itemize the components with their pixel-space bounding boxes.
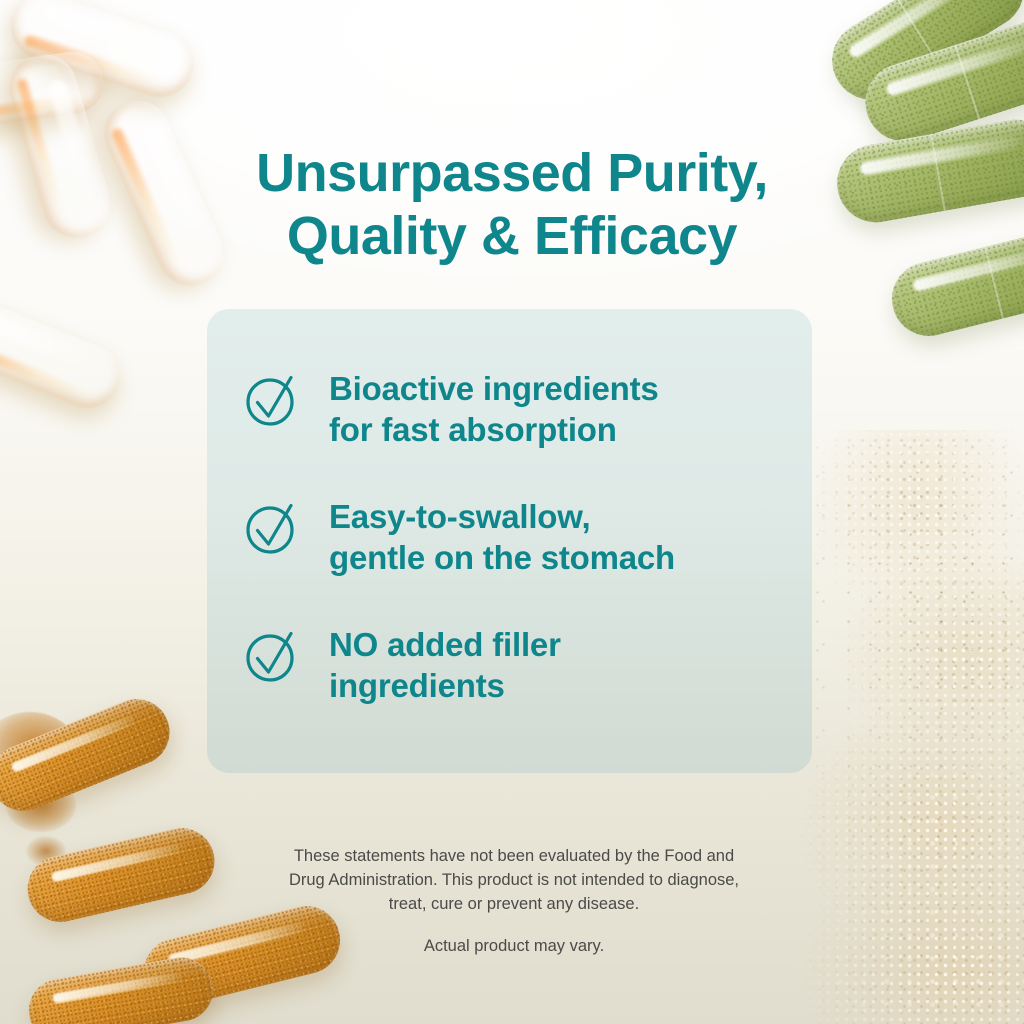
- page-title: Unsurpassed Purity, Quality & Efficacy: [0, 142, 1024, 267]
- list-item: Bioactive ingredients for fast absorptio…: [241, 367, 778, 451]
- check-circle-icon: [241, 625, 303, 687]
- list-item: NO added filler ingredients: [241, 623, 778, 707]
- turmeric-capsule: [21, 821, 221, 928]
- list-item: Easy-to-swallow, gentle on the stomach: [241, 495, 778, 579]
- yellow-softgel-capsule: [0, 48, 108, 130]
- yellow-softgel-capsule: [2, 0, 201, 105]
- benefit-label: Bioactive ingredients for fast absorptio…: [329, 367, 659, 451]
- fda-disclaimer: These statements have not been evaluated…: [228, 844, 800, 916]
- green-powder-capsule: [855, 11, 1024, 152]
- product-benefits-infographic: Unsurpassed Purity, Quality & Efficacy B…: [0, 0, 1024, 1024]
- green-powder-capsule: [817, 0, 1024, 114]
- benefits-card: Bioactive ingredients for fast absorptio…: [207, 309, 812, 773]
- spilled-turmeric-powder: [26, 836, 66, 866]
- benefit-label: Easy-to-swallow, gentle on the stomach: [329, 495, 675, 579]
- spilled-turmeric-powder: [0, 712, 78, 790]
- check-circle-icon: [241, 369, 303, 431]
- turmeric-capsule: [0, 689, 180, 821]
- spilled-turmeric-powder: [6, 778, 76, 832]
- check-circle-icon: [241, 497, 303, 559]
- benefit-label: NO added filler ingredients: [329, 623, 561, 707]
- turmeric-capsule: [24, 952, 218, 1024]
- product-variance-note: Actual product may vary.: [228, 934, 800, 958]
- yellow-softgel-capsule: [0, 290, 129, 418]
